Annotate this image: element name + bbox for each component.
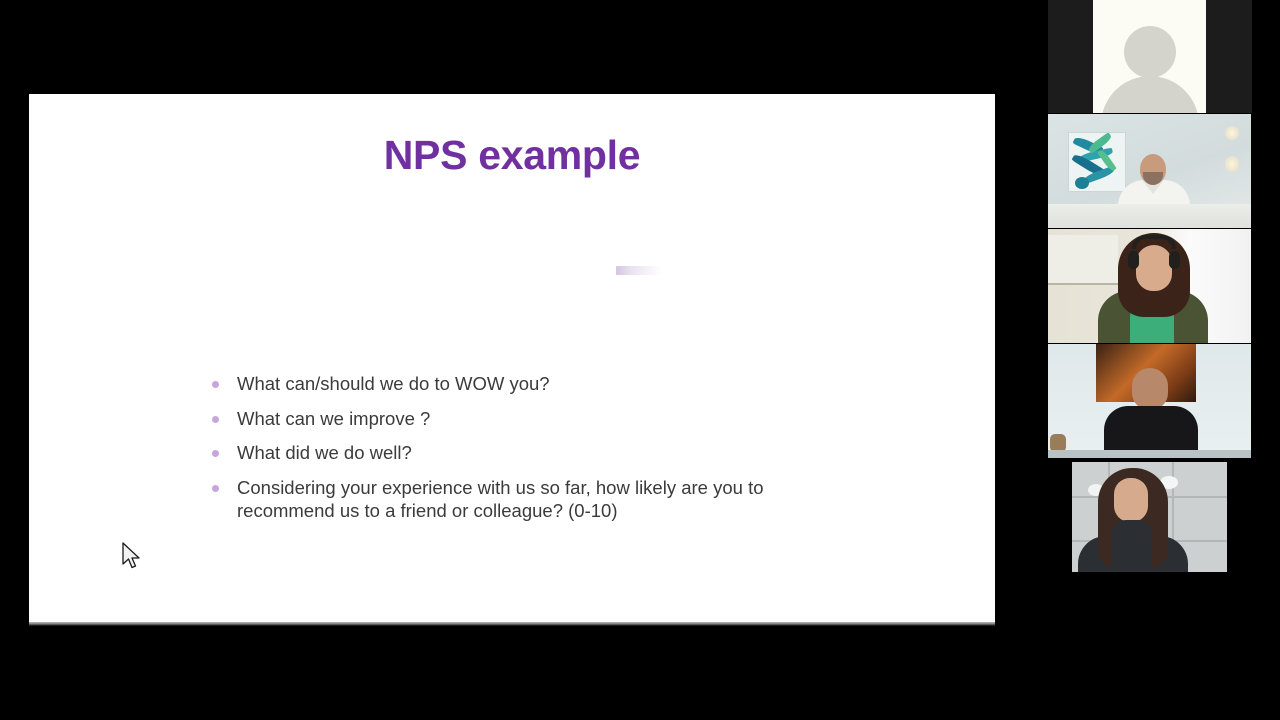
wall-lamp-icon (1225, 126, 1239, 140)
wall-lamp-icon (1225, 156, 1239, 172)
headphone-band-icon (1132, 235, 1176, 249)
bullet-dot-icon (212, 416, 219, 423)
bullet-text: Considering your experience with us so f… (237, 476, 862, 523)
presentation-slide[interactable]: NPS example What can/should we do to WOW… (29, 94, 995, 622)
participant-tile-white-polo[interactable] (1048, 114, 1251, 228)
avatar-head-icon (1124, 26, 1176, 78)
compression-artifact (616, 266, 662, 275)
bullet-text: What can we improve ? (237, 407, 430, 431)
palm-painting (1068, 132, 1126, 192)
participant-tile-black-shirt[interactable] (1048, 344, 1251, 458)
bullet-text: What did we do well? (237, 441, 412, 465)
avatar-body-icon (1101, 76, 1199, 113)
list-item: What can we improve ? (212, 407, 862, 431)
participant-turtleneck (1112, 520, 1152, 572)
participant-face (1114, 478, 1148, 522)
headphone-cup-icon (1169, 251, 1180, 269)
slide-bullet-list: What can/should we do to WOW you? What c… (212, 372, 862, 534)
slide-title: NPS example (29, 132, 995, 179)
slide-drop-shadow (29, 622, 995, 626)
list-item: What can/should we do to WOW you? (212, 372, 862, 396)
headphone-cup-icon (1128, 251, 1139, 269)
participant-tile-turtleneck[interactable] (1072, 462, 1227, 572)
bullet-text: What can/should we do to WOW you? (237, 372, 550, 396)
shared-screen-area[interactable]: NPS example What can/should we do to WOW… (0, 0, 1040, 720)
screen-root: NPS example What can/should we do to WOW… (0, 0, 1280, 720)
bullet-dot-icon (212, 450, 219, 457)
participant-tile-headphones[interactable] (1048, 229, 1251, 343)
whiteboard (1048, 235, 1118, 285)
desk-surface (1048, 204, 1251, 228)
desk-surface (1048, 450, 1251, 458)
participant-filmstrip[interactable] (1040, 0, 1280, 720)
bullet-dot-icon (212, 485, 219, 492)
mouse-cursor-icon (122, 542, 144, 572)
list-item: What did we do well? (212, 441, 862, 465)
list-item: Considering your experience with us so f… (212, 476, 862, 523)
participant-face (1136, 245, 1172, 291)
avatar (1093, 0, 1206, 113)
participant-tile-avatar[interactable] (1048, 0, 1252, 113)
bullet-dot-icon (212, 381, 219, 388)
participant-head (1132, 368, 1168, 410)
